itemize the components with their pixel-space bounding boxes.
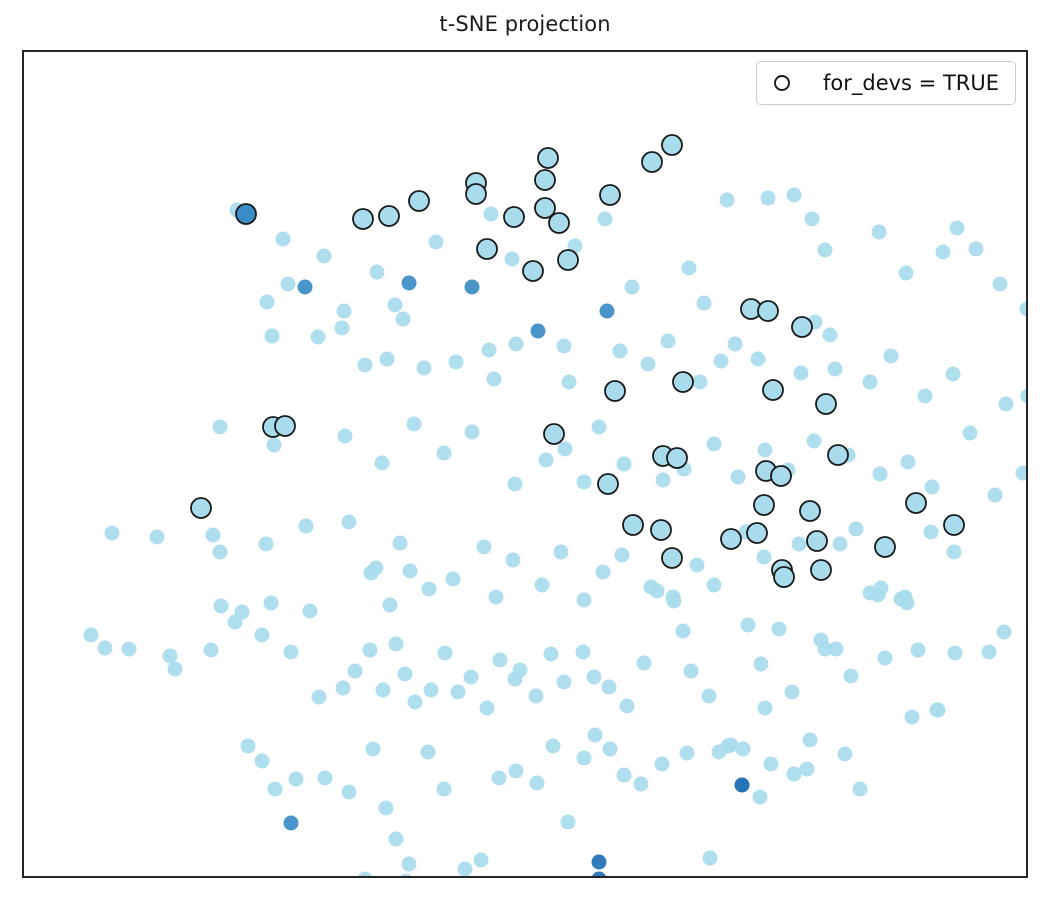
data-point bbox=[592, 872, 607, 879]
data-point bbox=[474, 853, 489, 868]
data-point bbox=[379, 801, 394, 816]
data-point bbox=[389, 832, 404, 847]
data-point bbox=[303, 604, 318, 619]
data-point bbox=[214, 599, 229, 614]
scatter-points-layer bbox=[24, 52, 1026, 876]
data-point bbox=[267, 438, 282, 453]
data-point bbox=[557, 675, 572, 690]
data-point bbox=[241, 739, 256, 754]
data-point bbox=[747, 523, 767, 543]
data-point bbox=[803, 733, 818, 748]
data-point bbox=[1021, 389, 1029, 404]
data-point bbox=[823, 328, 838, 343]
data-point bbox=[741, 618, 756, 633]
data-point bbox=[982, 645, 997, 660]
data-point bbox=[969, 242, 984, 257]
data-point bbox=[673, 372, 693, 392]
data-point bbox=[598, 212, 613, 227]
data-point bbox=[366, 742, 381, 757]
data-point bbox=[807, 531, 827, 551]
data-point bbox=[838, 747, 853, 762]
data-point bbox=[623, 515, 643, 535]
data-point bbox=[620, 699, 635, 714]
legend-marker-circle-open-icon bbox=[771, 72, 793, 94]
data-point bbox=[535, 578, 550, 593]
data-point bbox=[449, 355, 464, 370]
data-point bbox=[807, 434, 822, 449]
data-point bbox=[588, 728, 603, 743]
data-point bbox=[911, 643, 926, 658]
data-point bbox=[805, 212, 820, 227]
data-point bbox=[493, 653, 508, 668]
data-point bbox=[844, 669, 859, 684]
data-point bbox=[758, 301, 778, 321]
data-point bbox=[792, 537, 807, 552]
data-point bbox=[446, 572, 461, 587]
data-point bbox=[871, 588, 886, 603]
data-point bbox=[236, 204, 256, 224]
data-point bbox=[437, 446, 452, 461]
data-point bbox=[311, 330, 326, 345]
data-point bbox=[944, 515, 964, 535]
data-point bbox=[925, 480, 940, 495]
data-point bbox=[613, 344, 628, 359]
data-point bbox=[409, 191, 429, 211]
data-point bbox=[489, 590, 504, 605]
data-point bbox=[758, 701, 773, 716]
data-point bbox=[899, 266, 914, 281]
data-point bbox=[661, 334, 676, 349]
data-point bbox=[539, 453, 554, 468]
data-point bbox=[794, 366, 809, 381]
data-point bbox=[884, 349, 899, 364]
data-point bbox=[380, 352, 395, 367]
data-point bbox=[558, 442, 573, 457]
data-point bbox=[684, 664, 699, 679]
data-point bbox=[735, 778, 750, 793]
data-point bbox=[464, 670, 479, 685]
data-point bbox=[676, 624, 691, 639]
data-point bbox=[557, 339, 572, 354]
data-point bbox=[275, 416, 295, 436]
data-point bbox=[863, 375, 878, 390]
data-point bbox=[754, 657, 769, 672]
data-point bbox=[598, 474, 618, 494]
data-point bbox=[682, 261, 697, 276]
data-point bbox=[276, 232, 291, 247]
data-point bbox=[662, 548, 682, 568]
data-point bbox=[948, 646, 963, 661]
data-point bbox=[477, 239, 497, 259]
data-point bbox=[482, 343, 497, 358]
data-point bbox=[906, 493, 926, 513]
data-point bbox=[816, 394, 836, 414]
data-point bbox=[818, 642, 833, 657]
data-point bbox=[690, 558, 705, 573]
data-point bbox=[872, 225, 887, 240]
data-point bbox=[375, 456, 390, 471]
data-point bbox=[600, 185, 620, 205]
data-point bbox=[342, 785, 357, 800]
data-point bbox=[399, 874, 414, 879]
data-point bbox=[438, 646, 453, 661]
data-point bbox=[963, 426, 978, 441]
data-point bbox=[774, 567, 794, 587]
data-point bbox=[818, 243, 833, 258]
data-point bbox=[757, 550, 772, 565]
data-point bbox=[603, 742, 618, 757]
data-point bbox=[849, 522, 864, 537]
tsne-figure: t-SNE projection for_devs = TRUE bbox=[0, 0, 1050, 900]
data-point bbox=[924, 525, 939, 540]
data-point bbox=[800, 762, 815, 777]
data-point bbox=[84, 628, 99, 643]
data-point bbox=[465, 280, 480, 295]
data-point bbox=[403, 564, 418, 579]
data-point bbox=[875, 537, 895, 557]
data-point bbox=[615, 548, 630, 563]
data-point bbox=[204, 643, 219, 658]
data-point bbox=[509, 764, 524, 779]
data-point bbox=[667, 448, 687, 468]
data-point bbox=[988, 488, 1003, 503]
data-point bbox=[281, 277, 296, 292]
data-point bbox=[753, 790, 768, 805]
data-point bbox=[289, 772, 304, 787]
data-point bbox=[348, 664, 363, 679]
data-point bbox=[487, 372, 502, 387]
data-point bbox=[255, 628, 270, 643]
data-point bbox=[213, 420, 228, 435]
data-point bbox=[191, 498, 211, 518]
data-point bbox=[318, 771, 333, 786]
data-point bbox=[772, 622, 787, 637]
data-point bbox=[398, 667, 413, 682]
data-point bbox=[364, 566, 379, 581]
data-point bbox=[828, 445, 848, 465]
data-point bbox=[150, 530, 165, 545]
data-point bbox=[235, 605, 250, 620]
data-point bbox=[546, 739, 561, 754]
data-point bbox=[284, 645, 299, 660]
data-point bbox=[625, 280, 640, 295]
data-point bbox=[561, 815, 576, 830]
data-point bbox=[529, 689, 544, 704]
data-point bbox=[424, 683, 439, 698]
data-point bbox=[651, 520, 671, 540]
data-point bbox=[720, 193, 735, 208]
data-point bbox=[811, 560, 831, 580]
data-point bbox=[761, 191, 776, 206]
data-point bbox=[422, 582, 437, 597]
data-point bbox=[358, 358, 373, 373]
data-point bbox=[800, 501, 820, 521]
data-point bbox=[714, 354, 729, 369]
data-point bbox=[637, 656, 652, 671]
data-point bbox=[168, 662, 183, 677]
data-point bbox=[873, 467, 888, 482]
data-point bbox=[363, 643, 378, 658]
data-point bbox=[336, 681, 351, 696]
data-point bbox=[947, 545, 962, 560]
data-point bbox=[484, 207, 499, 222]
data-point bbox=[342, 515, 357, 530]
data-point bbox=[554, 545, 569, 560]
data-point bbox=[617, 768, 632, 783]
data-point bbox=[265, 329, 280, 344]
data-point bbox=[213, 545, 228, 560]
data-point bbox=[999, 397, 1014, 412]
data-point bbox=[122, 642, 137, 657]
data-point bbox=[538, 148, 558, 168]
data-point bbox=[764, 757, 779, 772]
data-point bbox=[264, 596, 279, 611]
scatter-svg bbox=[24, 52, 1028, 878]
data-point bbox=[736, 742, 751, 757]
data-point bbox=[787, 188, 802, 203]
data-point bbox=[997, 625, 1012, 640]
data-point bbox=[600, 304, 615, 319]
data-point bbox=[407, 417, 422, 432]
data-point bbox=[703, 851, 718, 866]
data-point bbox=[298, 280, 313, 295]
data-point bbox=[544, 424, 564, 444]
data-point bbox=[785, 685, 800, 700]
data-point bbox=[284, 816, 299, 831]
data-point bbox=[577, 475, 592, 490]
data-point bbox=[707, 578, 722, 593]
data-point bbox=[641, 357, 656, 372]
data-point bbox=[894, 592, 909, 607]
data-point bbox=[605, 381, 625, 401]
data-point bbox=[98, 641, 113, 656]
data-point bbox=[299, 519, 314, 534]
data-point bbox=[383, 598, 398, 613]
data-point bbox=[993, 277, 1008, 292]
data-point bbox=[312, 690, 327, 705]
data-point bbox=[544, 647, 559, 662]
data-point bbox=[650, 584, 665, 599]
data-point bbox=[268, 782, 283, 797]
data-point bbox=[656, 473, 671, 488]
data-point bbox=[602, 680, 617, 695]
data-point bbox=[697, 296, 712, 311]
data-point bbox=[853, 782, 868, 797]
data-point bbox=[577, 751, 592, 766]
data-point bbox=[576, 645, 591, 660]
data-point bbox=[492, 771, 507, 786]
data-point bbox=[506, 553, 521, 568]
data-point bbox=[754, 495, 774, 515]
data-point bbox=[389, 637, 404, 652]
data-point bbox=[402, 276, 417, 291]
data-point bbox=[592, 855, 607, 870]
data-point bbox=[751, 352, 766, 367]
data-point bbox=[901, 455, 916, 470]
data-point bbox=[260, 295, 275, 310]
data-point bbox=[693, 375, 708, 390]
data-point bbox=[634, 777, 649, 792]
legend-entry-label: for_devs = TRUE bbox=[823, 71, 999, 95]
data-point bbox=[255, 754, 270, 769]
data-point bbox=[513, 663, 528, 678]
data-point bbox=[408, 695, 423, 710]
data-point bbox=[437, 782, 452, 797]
data-point bbox=[206, 528, 221, 543]
data-point bbox=[787, 767, 802, 782]
data-point bbox=[702, 689, 717, 704]
page-title: t-SNE projection bbox=[0, 12, 1050, 36]
data-point bbox=[417, 361, 432, 376]
data-point bbox=[504, 207, 524, 227]
data-point bbox=[596, 565, 611, 580]
data-point bbox=[358, 872, 373, 879]
data-point bbox=[376, 683, 391, 698]
data-point bbox=[758, 443, 773, 458]
data-point bbox=[429, 235, 444, 250]
scatter-series bbox=[592, 778, 750, 879]
data-point bbox=[728, 337, 743, 352]
data-point bbox=[931, 703, 946, 718]
scatter-series bbox=[84, 188, 1029, 879]
data-point bbox=[396, 312, 411, 327]
data-point bbox=[458, 862, 473, 877]
data-point bbox=[562, 375, 577, 390]
data-point bbox=[317, 249, 332, 264]
data-point bbox=[721, 739, 736, 754]
data-point bbox=[592, 420, 607, 435]
data-point bbox=[950, 221, 965, 236]
data-point bbox=[353, 209, 373, 229]
data-point bbox=[466, 184, 486, 204]
data-point bbox=[918, 389, 933, 404]
data-point bbox=[523, 261, 543, 281]
legend[interactable]: for_devs = TRUE bbox=[756, 61, 1016, 105]
data-point bbox=[1020, 302, 1029, 317]
data-point bbox=[337, 304, 352, 319]
data-point bbox=[763, 380, 783, 400]
data-point bbox=[792, 317, 812, 337]
data-point bbox=[946, 367, 961, 382]
data-point bbox=[163, 649, 178, 664]
data-point bbox=[549, 213, 569, 233]
data-point bbox=[587, 670, 602, 685]
plot-area: for_devs = TRUE bbox=[22, 50, 1028, 878]
data-point bbox=[617, 457, 632, 472]
data-point bbox=[878, 651, 893, 666]
data-point bbox=[477, 540, 492, 555]
data-point bbox=[558, 250, 578, 270]
data-point bbox=[662, 135, 682, 155]
data-point bbox=[577, 593, 592, 608]
data-point bbox=[370, 265, 385, 280]
data-point bbox=[731, 470, 746, 485]
data-point bbox=[402, 857, 417, 872]
data-point bbox=[721, 529, 741, 549]
data-point bbox=[667, 594, 682, 609]
data-point bbox=[388, 298, 403, 313]
data-point bbox=[833, 537, 848, 552]
data-point bbox=[530, 776, 545, 791]
data-point bbox=[1016, 466, 1029, 481]
data-point bbox=[335, 321, 350, 336]
data-point bbox=[655, 757, 670, 772]
data-point bbox=[421, 745, 436, 760]
data-point bbox=[480, 701, 495, 716]
data-point bbox=[509, 337, 524, 352]
data-point bbox=[508, 477, 523, 492]
data-point bbox=[505, 252, 520, 267]
data-point bbox=[936, 245, 951, 260]
data-point bbox=[642, 152, 662, 172]
data-point bbox=[680, 746, 695, 761]
data-point bbox=[707, 437, 722, 452]
data-point bbox=[465, 425, 480, 440]
data-point bbox=[828, 362, 843, 377]
data-point bbox=[905, 710, 920, 725]
data-point bbox=[531, 324, 546, 339]
data-point bbox=[259, 537, 274, 552]
data-point bbox=[771, 466, 791, 486]
data-point bbox=[105, 526, 120, 541]
data-point bbox=[451, 685, 466, 700]
data-point bbox=[338, 429, 353, 444]
data-point bbox=[379, 206, 399, 226]
data-point bbox=[393, 536, 408, 551]
data-point bbox=[535, 170, 555, 190]
